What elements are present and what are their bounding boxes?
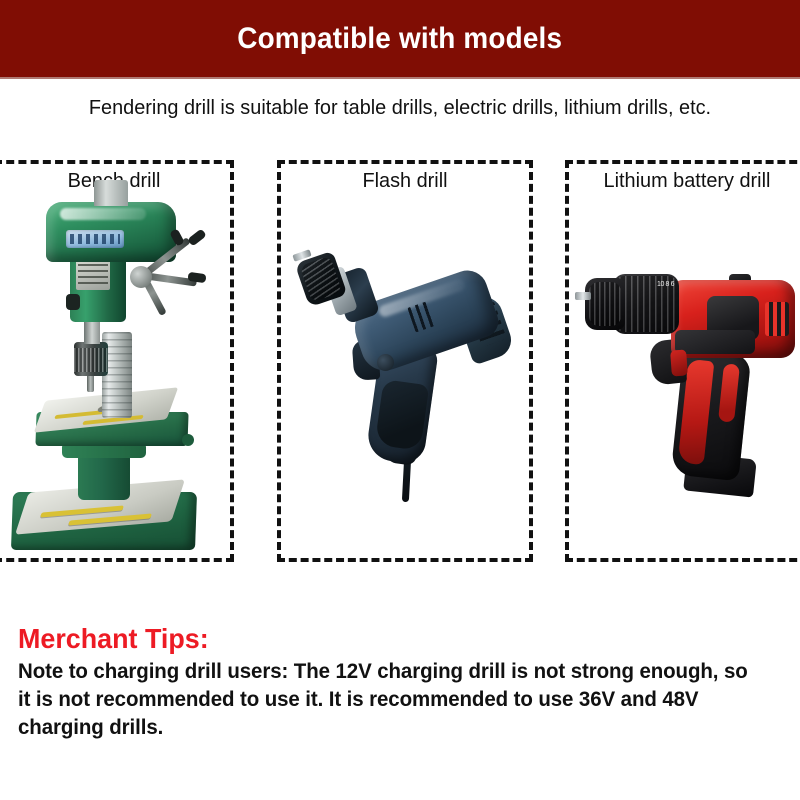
model-card-bench-drill: Bench drill: [0, 160, 234, 562]
flash-drill-photo: [281, 164, 529, 558]
lithium-drill-body-panel: [675, 330, 755, 354]
lithium-battery-drill-photo: 10 8 6: [569, 164, 800, 558]
model-card-flash-drill: Flash drill: [277, 160, 533, 562]
bench-drill-feed-hub: [130, 266, 152, 288]
lithium-drill-torque-scale: 10 8 6: [657, 280, 679, 330]
lithium-drill-chuck-teeth: [589, 282, 621, 326]
lithium-drill-vents: [765, 302, 789, 336]
bench-drill-side-knob: [66, 294, 80, 310]
bench-drill-photo: [0, 164, 230, 558]
bench-drill-panel-lines: [78, 264, 108, 286]
merchant-tips-title: Merchant Tips:: [18, 624, 757, 654]
merchant-tips-section: Merchant Tips: Note to charging drill us…: [18, 624, 788, 742]
bench-drill-table-knob: [182, 434, 194, 446]
flash-drill-trigger: [377, 354, 394, 371]
bench-drill-head-gloss: [60, 208, 146, 220]
bench-drill-feed-grip: [187, 228, 207, 246]
bench-drill-pedestal: [78, 454, 130, 500]
bench-drill-chuck-teeth: [74, 348, 108, 372]
bench-drill-motor: [94, 180, 128, 206]
bench-drill-badge-text: [70, 234, 120, 244]
merchant-tips-body: Note to charging drill users: The 12V ch…: [18, 658, 759, 742]
lithium-drill-trigger: [670, 349, 688, 376]
lithium-drill-bit: [575, 292, 591, 300]
product-infographic: Compatible with models Fendering drill i…: [0, 0, 800, 800]
model-card-lithium-battery-drill: Lithium battery drill: [565, 160, 800, 562]
